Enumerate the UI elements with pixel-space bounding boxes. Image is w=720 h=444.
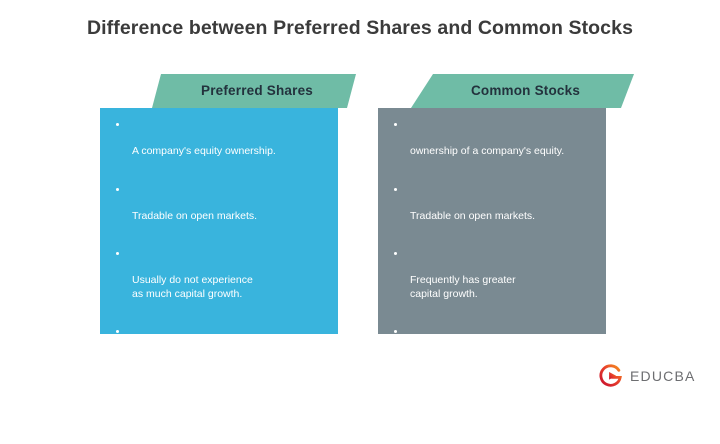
- bullet-dot-icon: [394, 188, 397, 191]
- list-item: Frequently has greater capital growth.: [388, 247, 592, 301]
- panel-preferred-shares: A company's equity ownership. Tradable o…: [100, 108, 338, 334]
- list-item-text: Has rarely any voting rights: [132, 352, 259, 364]
- list-item: The option to convert into ordinary shar…: [110, 390, 324, 444]
- list-item-text: ownership of a company's equity.: [410, 145, 564, 157]
- slide-canvas: Difference between Preferred Shares and …: [0, 0, 720, 404]
- bullet-list-preferred-shares: A company's equity ownership. Tradable o…: [110, 118, 324, 444]
- list-item: Tradable on open markets.: [388, 183, 592, 224]
- panel-common-stocks: ownership of a company's equity. Tradabl…: [378, 108, 606, 334]
- column-header-preferred-shares: Preferred Shares: [152, 74, 356, 108]
- list-item: Lack of the ability to convert into pref…: [388, 390, 592, 444]
- column-header-label: Common Stocks: [465, 83, 580, 98]
- list-item-text: Tradable on open markets.: [132, 210, 257, 222]
- list-item: Has rarely any voting rights: [110, 325, 324, 366]
- bullet-dot-icon: [394, 395, 397, 398]
- list-item-text: Lack of the ability to convert into pref…: [410, 417, 540, 443]
- bullet-dot-icon: [116, 252, 119, 255]
- educba-swirl-icon: [598, 363, 624, 389]
- bullet-dot-icon: [116, 188, 119, 191]
- page-title: Difference between Preferred Shares and …: [0, 17, 720, 40]
- educba-logo-text: EDUCBA: [630, 368, 696, 384]
- list-item-text: Tradable on open markets.: [410, 210, 535, 222]
- column-header-label: Preferred Shares: [195, 83, 313, 98]
- bullet-dot-icon: [394, 330, 397, 333]
- list-item: Has typical voting rights.: [388, 325, 592, 366]
- list-item-text: Usually do not experience as much capita…: [132, 274, 253, 300]
- bullet-dot-icon: [116, 330, 119, 333]
- column-common-stocks: Common Stocks ownership of a company's e…: [378, 74, 634, 334]
- list-item-text: A company's equity ownership.: [132, 145, 276, 157]
- column-header-common-stocks: Common Stocks: [411, 74, 634, 108]
- bullet-list-common-stocks: ownership of a company's equity. Tradabl…: [388, 118, 592, 444]
- bullet-dot-icon: [394, 252, 397, 255]
- list-item-text: The option to convert into ordinary shar…: [132, 417, 283, 443]
- educba-logo: EDUCBA: [598, 363, 696, 389]
- column-preferred-shares: Preferred Shares A company's equity owne…: [100, 74, 356, 334]
- list-item: ownership of a company's equity.: [388, 118, 592, 159]
- list-item-text: Has typical voting rights.: [410, 352, 524, 364]
- bullet-dot-icon: [116, 123, 119, 126]
- bullet-dot-icon: [394, 123, 397, 126]
- list-item-text: Frequently has greater capital growth.: [410, 274, 516, 300]
- list-item: Usually do not experience as much capita…: [110, 247, 324, 301]
- list-item: A company's equity ownership.: [110, 118, 324, 159]
- bullet-dot-icon: [116, 395, 119, 398]
- list-item: Tradable on open markets.: [110, 183, 324, 224]
